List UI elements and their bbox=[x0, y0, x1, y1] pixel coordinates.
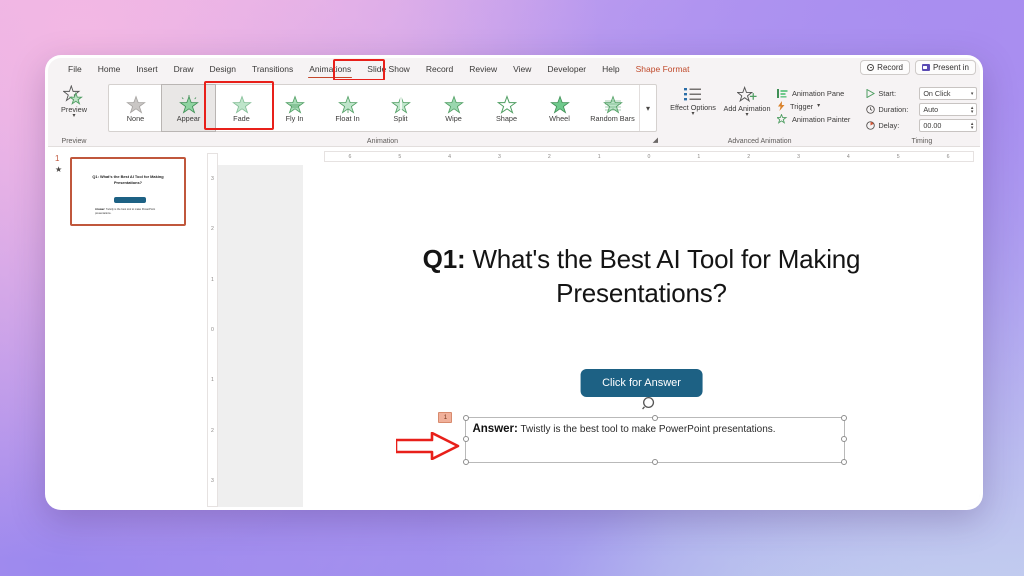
hruler-tick-1: 5 bbox=[398, 154, 401, 160]
tab-file[interactable]: File bbox=[60, 61, 90, 77]
star-none-icon bbox=[126, 95, 146, 114]
animation-none-label: None bbox=[127, 115, 144, 123]
star-appear-icon bbox=[179, 95, 199, 114]
slide-animation-star-icon: ★ bbox=[55, 165, 62, 174]
resize-handle-ml[interactable] bbox=[463, 436, 469, 442]
star-split-icon bbox=[391, 95, 411, 114]
animation-wipe[interactable]: Wipe bbox=[427, 85, 480, 131]
slide-thumbnail-pane[interactable]: 1 ★ Q1: What's the Best AI Tool for Maki… bbox=[48, 147, 198, 510]
slide-title-rest: What's the Best AI Tool for Making Prese… bbox=[465, 244, 860, 308]
start-value: On Click bbox=[923, 89, 950, 98]
ribbon-group-timing: Start: On Click ▾ Duration: Auto ▴▾ bbox=[858, 80, 983, 146]
animation-shape-label: Shape bbox=[496, 115, 517, 123]
resize-handle-br[interactable] bbox=[841, 459, 847, 465]
tab-shape-format[interactable]: Shape Format bbox=[628, 61, 698, 77]
click-for-answer-button[interactable]: Click for Answer bbox=[580, 369, 703, 397]
delay-value: 00.00 bbox=[923, 121, 941, 130]
hruler-tick-11: 5 bbox=[897, 154, 900, 160]
animation-fly-in[interactable]: Fly In bbox=[268, 85, 321, 131]
effect-options-caret-icon[interactable]: ▾ bbox=[691, 112, 694, 117]
delay-label: Delay: bbox=[878, 121, 916, 130]
thumbnail-button bbox=[114, 197, 146, 203]
slide-title-textbox[interactable]: Q1: What's the Best AI Tool for Making P… bbox=[344, 242, 940, 311]
animation-random-bars-label: Random Bars bbox=[590, 115, 635, 123]
resize-handle-tr[interactable] bbox=[841, 415, 847, 421]
horizontal-ruler[interactable]: 6 5 4 3 2 1 0 1 2 3 4 5 6 bbox=[324, 151, 974, 162]
tab-slide-show[interactable]: Slide Show bbox=[359, 61, 418, 77]
hruler-tick-3: 3 bbox=[498, 154, 501, 160]
effect-options-button[interactable]: Effect Options ▾ bbox=[669, 86, 717, 117]
tab-developer[interactable]: Developer bbox=[539, 61, 594, 77]
group-label-preview: Preview bbox=[48, 138, 100, 145]
tab-home[interactable]: Home bbox=[90, 61, 129, 77]
hruler-tick-5: 1 bbox=[598, 154, 601, 160]
animation-fly-in-label: Fly In bbox=[286, 115, 304, 123]
animation-random-bars[interactable]: Random Bars bbox=[586, 85, 639, 131]
animation-float-in[interactable]: Float In bbox=[321, 85, 374, 131]
answer-body: Twistly is the best tool to make PowerPo… bbox=[518, 424, 776, 435]
animation-shape[interactable]: Shape bbox=[480, 85, 533, 131]
vruler-tick-5: 2 bbox=[211, 428, 214, 434]
tab-animations[interactable]: Animations bbox=[301, 61, 359, 77]
tab-view[interactable]: View bbox=[505, 61, 539, 77]
start-row: Start: On Click ▾ bbox=[866, 87, 977, 100]
star-shape-icon bbox=[497, 95, 517, 114]
ribbon-group-preview: Preview ▾ Preview bbox=[48, 80, 100, 146]
animation-appear-label: Appear bbox=[177, 115, 201, 123]
resize-handle-bl[interactable] bbox=[463, 459, 469, 465]
ribbon-tab-strip: File Home Insert Draw Design Transitions… bbox=[48, 58, 980, 80]
answer-textbox[interactable]: Answer: Twistly is the best tool to make… bbox=[465, 417, 844, 462]
ribbon-group-advanced-animation: Effect Options ▾ Add Animation ▾ bbox=[665, 80, 854, 146]
dialog-launcher-icon[interactable]: ◢ bbox=[653, 136, 658, 144]
tab-help[interactable]: Help bbox=[594, 61, 627, 77]
vruler-tick-4: 1 bbox=[211, 377, 214, 383]
thumbnail-title: Q1: What's the Best AI Tool for Making P… bbox=[82, 174, 174, 186]
record-button-label: Record bbox=[877, 63, 903, 72]
animation-wipe-label: Wipe bbox=[445, 115, 462, 123]
slide-editor: 3 2 1 0 1 2 3 6 5 4 3 2 1 0 1 2 3 bbox=[198, 147, 980, 510]
animation-split-label: Split bbox=[393, 115, 407, 123]
clock-icon bbox=[866, 105, 875, 114]
hruler-tick-9: 3 bbox=[797, 154, 800, 160]
hruler-tick-7: 1 bbox=[697, 154, 700, 160]
animation-painter-icon bbox=[777, 114, 788, 124]
chevron-down-icon[interactable]: ▾ bbox=[971, 91, 974, 97]
vruler-tick-6: 3 bbox=[211, 478, 214, 484]
duration-spinner[interactable]: ▴▾ bbox=[971, 106, 974, 114]
duration-input[interactable]: Auto ▴▾ bbox=[919, 103, 977, 116]
present-in-button[interactable]: Present in bbox=[915, 60, 976, 75]
resize-handle-bc[interactable] bbox=[652, 459, 658, 465]
vruler-tick-3: 0 bbox=[211, 327, 214, 333]
trigger-caret-icon[interactable]: ▾ bbox=[817, 104, 820, 109]
answer-text-content: Answer: Twistly is the best tool to make… bbox=[472, 421, 837, 438]
tab-design[interactable]: Design bbox=[202, 61, 244, 77]
resize-handle-mr[interactable] bbox=[841, 436, 847, 442]
duration-label: Duration: bbox=[878, 105, 916, 114]
duration-value: Auto bbox=[923, 105, 938, 114]
animation-fade-label: Fade bbox=[233, 115, 250, 123]
animation-float-in-label: Float In bbox=[335, 115, 359, 123]
thumbnail-answer-label: Answer: bbox=[95, 208, 105, 211]
animation-gallery: None Appear Fade bbox=[108, 84, 657, 132]
hruler-tick-8: 2 bbox=[747, 154, 750, 160]
slide-canvas[interactable]: Q1: What's the Best AI Tool for Making P… bbox=[303, 165, 980, 510]
animations-ribbon: Preview ▾ Preview None bbox=[48, 80, 980, 147]
trigger-button[interactable]: Trigger ▾ bbox=[777, 101, 850, 111]
tab-insert[interactable]: Insert bbox=[128, 61, 165, 77]
animation-none[interactable]: None bbox=[109, 85, 162, 131]
gallery-more-icon[interactable]: ▾ bbox=[639, 85, 656, 131]
hruler-tick-4: 2 bbox=[548, 154, 551, 160]
hruler-tick-12: 6 bbox=[947, 154, 950, 160]
resize-handle-tc[interactable] bbox=[652, 415, 658, 421]
animation-pane-label: Animation Pane bbox=[792, 89, 844, 98]
tab-record[interactable]: Record bbox=[418, 61, 461, 77]
delay-spinner[interactable]: ▴▾ bbox=[971, 122, 974, 130]
animation-painter-button[interactable]: Animation Painter bbox=[777, 114, 850, 124]
group-label-animation: Animation bbox=[104, 138, 661, 145]
play-icon bbox=[866, 89, 875, 98]
hruler-tick-6: 0 bbox=[648, 154, 651, 160]
star-fade-icon bbox=[232, 95, 252, 114]
preview-dropdown-caret-icon[interactable]: ▾ bbox=[72, 114, 75, 119]
star-wipe-icon bbox=[444, 95, 464, 114]
tab-draw[interactable]: Draw bbox=[166, 61, 202, 77]
present-in-icon bbox=[922, 64, 930, 71]
animation-order-tag[interactable]: 1 bbox=[438, 412, 452, 423]
vertical-ruler[interactable]: 3 2 1 0 1 2 3 bbox=[207, 153, 218, 507]
animation-wheel-label: Wheel bbox=[549, 115, 570, 123]
star-wheel-icon bbox=[550, 95, 570, 114]
vruler-tick-0: 3 bbox=[211, 176, 214, 182]
animation-fade[interactable]: Fade bbox=[215, 85, 268, 131]
red-arrow-annotation bbox=[396, 432, 460, 460]
vruler-tick-1: 2 bbox=[211, 226, 214, 232]
animation-pane-button[interactable]: Animation Pane bbox=[777, 89, 850, 98]
tab-review[interactable]: Review bbox=[461, 61, 505, 77]
slide-number: 1 bbox=[55, 154, 59, 163]
powerpoint-window: File Home Insert Draw Design Transitions… bbox=[45, 55, 983, 510]
effect-options-icon bbox=[683, 86, 703, 103]
record-icon bbox=[867, 64, 874, 71]
mouse-cursor-icon bbox=[642, 395, 657, 410]
delay-clock-icon bbox=[866, 121, 875, 130]
animation-pane-icon bbox=[777, 89, 788, 98]
preview-star-icon bbox=[63, 85, 85, 105]
animation-appear[interactable]: Appear bbox=[162, 85, 215, 131]
group-label-timing: Timing bbox=[858, 138, 983, 145]
record-button[interactable]: Record bbox=[860, 60, 910, 75]
duration-row: Duration: Auto ▴▾ bbox=[866, 103, 977, 116]
hruler-tick-10: 4 bbox=[847, 154, 850, 160]
star-randombars-icon bbox=[603, 95, 623, 114]
answer-label: Answer: bbox=[472, 423, 517, 435]
star-floatin-icon bbox=[338, 95, 358, 114]
vruler-tick-2: 1 bbox=[211, 277, 214, 283]
trigger-icon bbox=[777, 101, 786, 111]
delay-row: Delay: 00.00 ▴▾ bbox=[866, 119, 977, 132]
add-animation-icon bbox=[737, 86, 758, 104]
animation-painter-label: Animation Painter bbox=[792, 115, 850, 124]
animation-wheel[interactable]: Wheel bbox=[533, 85, 586, 131]
start-dropdown[interactable]: On Click ▾ bbox=[919, 87, 977, 100]
ribbon-group-animation: None Appear Fade bbox=[104, 80, 661, 146]
start-label: Start: bbox=[878, 89, 916, 98]
hruler-tick-2: 4 bbox=[448, 154, 451, 160]
slide-title-prefix: Q1: bbox=[423, 244, 466, 274]
delay-input[interactable]: 00.00 ▴▾ bbox=[919, 119, 977, 132]
group-label-advanced-animation: Advanced Animation bbox=[665, 138, 854, 145]
trigger-label: Trigger bbox=[790, 102, 813, 111]
add-animation-button[interactable]: Add Animation ▾ bbox=[723, 86, 771, 118]
add-animation-caret-icon[interactable]: ▾ bbox=[745, 113, 748, 118]
star-flyin-icon bbox=[285, 95, 305, 114]
workspace: 1 ★ Q1: What's the Best AI Tool for Maki… bbox=[48, 147, 980, 510]
animation-split[interactable]: Split bbox=[374, 85, 427, 131]
hruler-tick-0: 6 bbox=[348, 154, 351, 160]
thumbnail-answer: Answer: Twistly is the best tool to make… bbox=[95, 208, 161, 216]
resize-handle-tl[interactable] bbox=[463, 415, 469, 421]
preview-button[interactable]: Preview ▾ bbox=[52, 82, 96, 119]
tab-transitions[interactable]: Transitions bbox=[244, 61, 301, 77]
ribbon-right-buttons: Record Present in bbox=[860, 60, 976, 75]
slide-thumbnail-1[interactable]: Q1: What's the Best AI Tool for Making P… bbox=[70, 157, 186, 226]
present-in-button-label: Present in bbox=[933, 63, 969, 72]
